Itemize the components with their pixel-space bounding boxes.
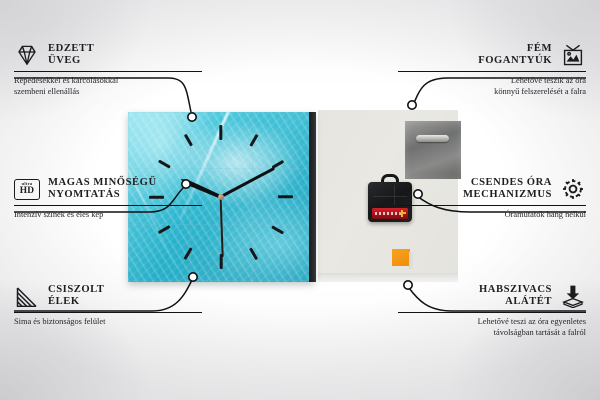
feature-description: Óramutatók hang nélkül — [398, 209, 586, 220]
movement-seam-vertical — [394, 185, 395, 205]
dial-tick — [184, 247, 193, 260]
feature-header: EDZETT ÜVEG — [14, 42, 202, 68]
feature-divider — [398, 312, 586, 313]
feature-high-quality-print: ultra HD MAGAS MINŐSÉGŰ NYOMTATÁS Intenz… — [14, 176, 202, 220]
dial-tick — [249, 134, 258, 147]
feature-foam-pad: HABSZIVACS ALÁTÉT Lehetővé teszi az óra … — [398, 283, 586, 338]
hands-center-cap — [218, 194, 224, 200]
wall-floor-line — [318, 273, 458, 282]
feature-silent-clock-mechanism: CSENDES ÓRA MECHANIZMUS Óramutatók hang … — [398, 176, 586, 220]
feature-divider — [398, 71, 586, 72]
ultra-hd-main-text: HD — [20, 187, 34, 196]
hanger-slot — [416, 135, 449, 142]
feature-divider — [14, 71, 202, 72]
dial-tick — [271, 225, 284, 234]
feature-metal-handles: FÉM FOGANTYÚK Lehetővé teszik az óra kön… — [398, 42, 586, 97]
feature-header: ultra HD MAGAS MINŐSÉGŰ NYOMTATÁS — [14, 176, 202, 202]
feature-description: Lehetővé teszi az óra egyenletes távolsá… — [398, 316, 586, 338]
feature-header: CSENDES ÓRA MECHANIZMUS — [398, 176, 586, 202]
dial-tick — [278, 195, 293, 198]
dial-tick — [249, 247, 258, 260]
gear-icon — [560, 176, 586, 202]
feature-description: Intenzív színek és éles kép — [14, 209, 202, 220]
orange-foam-spacer — [392, 249, 410, 266]
feature-title: EDZETT ÜVEG — [48, 43, 94, 68]
second-hand — [220, 197, 224, 257]
clock-side-edge — [309, 112, 316, 282]
feature-header: CSISZOLT ÉLEK — [14, 283, 202, 309]
metal-hanger-plate — [405, 121, 461, 179]
product-infographic: EDZETT ÜVEG Repedésekkel és karcolásokka… — [0, 0, 600, 400]
feature-description: Repedésekkel és karcolásokkal szembeni e… — [14, 75, 202, 97]
polished-edges-icon — [14, 283, 40, 309]
feature-title: FÉM FOGANTYÚK — [478, 43, 552, 68]
diamond-icon — [14, 42, 40, 68]
feature-title: HABSZIVACS ALÁTÉT — [479, 284, 552, 309]
feature-divider — [14, 312, 202, 313]
feature-title: MAGAS MINŐSÉGŰ NYOMTATÁS — [48, 177, 157, 202]
feature-header: HABSZIVACS ALÁTÉT — [398, 283, 586, 309]
minute-hand — [220, 167, 275, 199]
dial-tick — [158, 225, 171, 234]
feature-polished-edges: CSISZOLT ÉLEK Sima és biztonságos felüle… — [14, 283, 202, 327]
foam-pad-arrow-icon — [560, 283, 586, 309]
feature-tempered-glass: EDZETT ÜVEG Repedésekkel és karcolásokka… — [14, 42, 202, 97]
ultra-hd-badge-icon: ultra HD — [14, 176, 40, 202]
feature-title: CSENDES ÓRA MECHANIZMUS — [463, 177, 552, 202]
dial-tick — [184, 134, 193, 147]
foam-spacer-shadow — [409, 252, 415, 269]
feature-description: Sima és biztonságos felület — [14, 316, 202, 327]
feature-description: Lehetővé teszik az óra könnyű felszerelé… — [398, 75, 586, 97]
feature-title: CSISZOLT ÉLEK — [48, 284, 104, 309]
dial-tick — [158, 160, 171, 169]
dial-tick — [271, 160, 284, 169]
feature-header: FÉM FOGANTYÚK — [398, 42, 586, 68]
dial-tick — [219, 125, 222, 140]
feature-divider — [14, 205, 202, 206]
picture-hanger-icon — [560, 42, 586, 68]
dial-tick — [219, 254, 222, 269]
feature-divider — [398, 205, 586, 206]
